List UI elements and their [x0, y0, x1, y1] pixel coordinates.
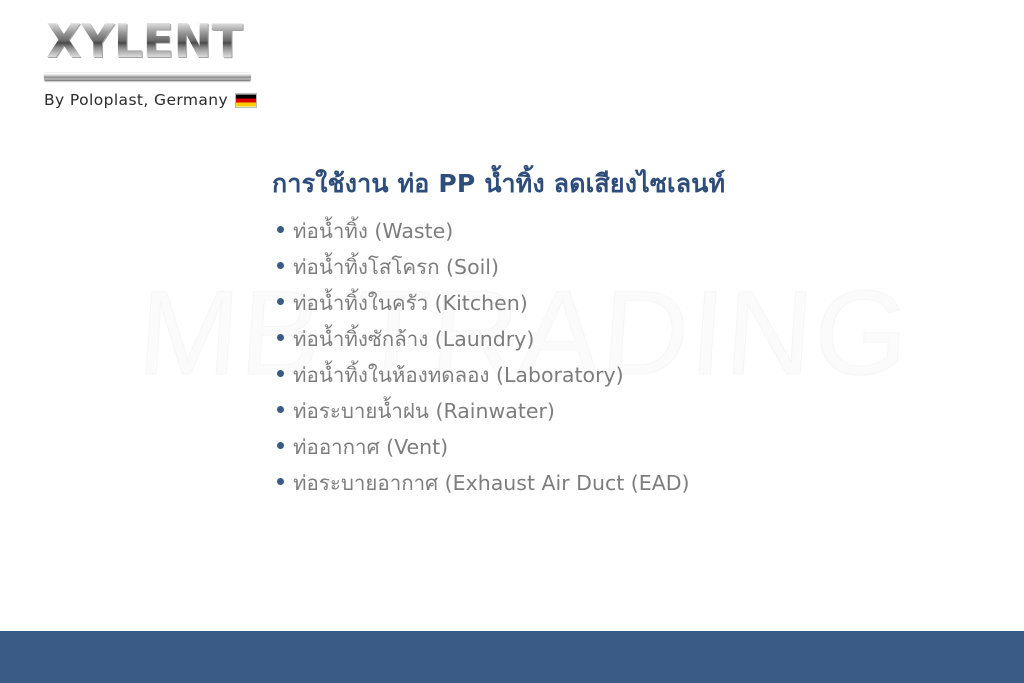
brand-logo: XYLENT By Poloplast, Germany — [44, 18, 259, 109]
list-item: ท่อน้ำทิ้ง (Waste) — [277, 221, 690, 257]
list-item: ท่อระบายน้ำฝน (Rainwater) — [277, 401, 690, 437]
bullet-dot-icon — [277, 370, 284, 377]
list-item: ท่อน้ำทิ้งโสโครก (Soil) — [277, 257, 690, 293]
list-item: ท่อน้ำทิ้งในครัว (Kitchen) — [277, 293, 690, 329]
list-item-label: ท่ออากาศ (Vent) — [293, 437, 448, 458]
bullet-dot-icon — [277, 478, 284, 485]
bullet-dot-icon — [277, 226, 284, 233]
list-item-label: ท่อน้ำทิ้งโสโครก (Soil) — [293, 257, 499, 278]
bullet-dot-icon — [277, 334, 284, 341]
list-item-label: ท่อระบายอากาศ (Exhaust Air Duct (EAD) — [293, 473, 690, 494]
list-item: ท่อระบายอากาศ (Exhaust Air Duct (EAD) — [277, 473, 690, 509]
list-item-label: ท่อน้ำทิ้งซักล้าง (Laundry) — [293, 329, 534, 350]
logo-divider-bar — [44, 72, 251, 81]
bullet-dot-icon — [277, 262, 284, 269]
list-item: ท่ออากาศ (Vent) — [277, 437, 690, 473]
list-item-label: ท่อระบายน้ำฝน (Rainwater) — [293, 401, 555, 422]
page-title: การใช้งาน ท่อ PP น้ำทิ้ง ลดเสียงไซเลนท์ — [272, 164, 725, 204]
bullet-dot-icon — [277, 298, 284, 305]
logo-tagline-row: By Poloplast, Germany — [44, 91, 259, 109]
german-flag-icon — [235, 93, 257, 108]
list-item: ท่อน้ำทิ้งซักล้าง (Laundry) — [277, 329, 690, 365]
application-list: ท่อน้ำทิ้ง (Waste) ท่อน้ำทิ้งโสโครก (Soi… — [277, 221, 690, 509]
footer-accent-bar — [0, 631, 1024, 683]
logo-tagline: By Poloplast, Germany — [44, 91, 228, 109]
list-item-label: ท่อน้ำทิ้งในครัว (Kitchen) — [293, 293, 528, 314]
slide-canvas: MB TRADING XYLENT By Poloplast, Germany … — [0, 0, 1024, 683]
list-item: ท่อน้ำทิ้งในห้องทดลอง (Laboratory) — [277, 365, 690, 401]
list-item-label: ท่อน้ำทิ้ง (Waste) — [293, 221, 453, 242]
logo-wordmark: XYLENT — [44, 18, 259, 66]
bullet-dot-icon — [277, 442, 284, 449]
list-item-label: ท่อน้ำทิ้งในห้องทดลอง (Laboratory) — [293, 365, 624, 386]
bullet-dot-icon — [277, 406, 284, 413]
